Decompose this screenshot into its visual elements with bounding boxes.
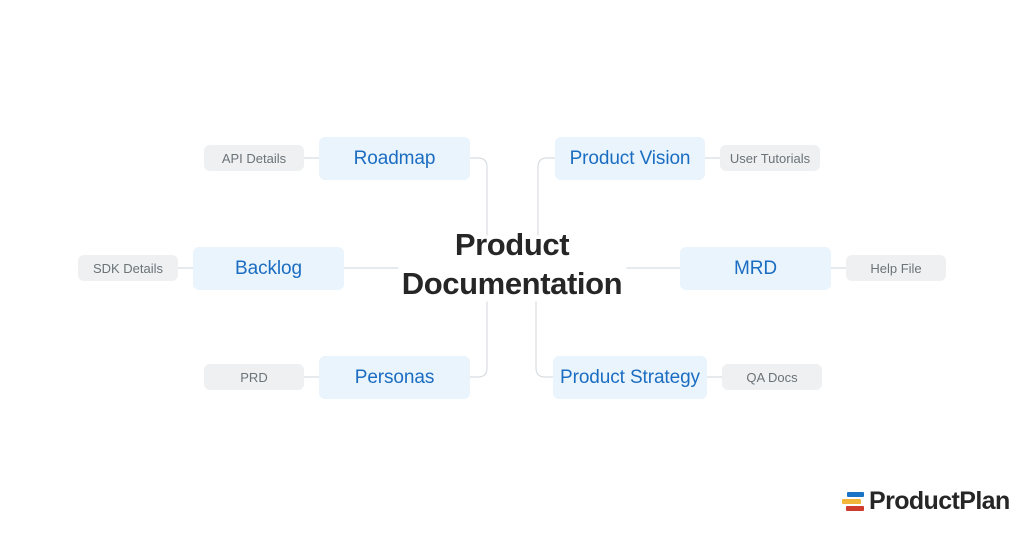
node-mrd[interactable]: MRD (680, 247, 831, 290)
node-sdk-details[interactable]: SDK Details (78, 255, 178, 281)
node-help-file[interactable]: Help File (846, 255, 946, 281)
node-product-strategy[interactable]: Product Strategy (553, 356, 707, 399)
node-product-vision[interactable]: Product Vision (555, 137, 705, 180)
logo-bar-red-icon (846, 506, 864, 511)
productplan-logo: ProductPlan (842, 489, 1010, 514)
productplan-logo-mark (842, 492, 864, 512)
node-prd[interactable]: PRD (204, 364, 304, 390)
center-title: Product Documentation (312, 226, 712, 304)
node-qa-docs[interactable]: QA Docs (722, 364, 822, 390)
productplan-wordmark: ProductPlan (869, 489, 1010, 514)
logo-bar-yellow-icon (842, 499, 861, 504)
node-personas[interactable]: Personas (319, 356, 470, 399)
node-user-tutorials[interactable]: User Tutorials (720, 145, 820, 171)
connector-center-product-vision (538, 158, 555, 235)
center-title-line-2: Documentation (312, 265, 712, 304)
connector-roadmap-center (470, 158, 487, 235)
connector-personas-center (470, 302, 487, 377)
center-title-line-1: Product (312, 226, 712, 265)
logo-bar-blue-icon (847, 492, 864, 497)
connector-center-product-strategy (536, 302, 553, 377)
node-api-details[interactable]: API Details (204, 145, 304, 171)
node-roadmap[interactable]: Roadmap (319, 137, 470, 180)
mindmap-canvas: API Details Roadmap SDK Details Backlog … (0, 0, 1024, 536)
